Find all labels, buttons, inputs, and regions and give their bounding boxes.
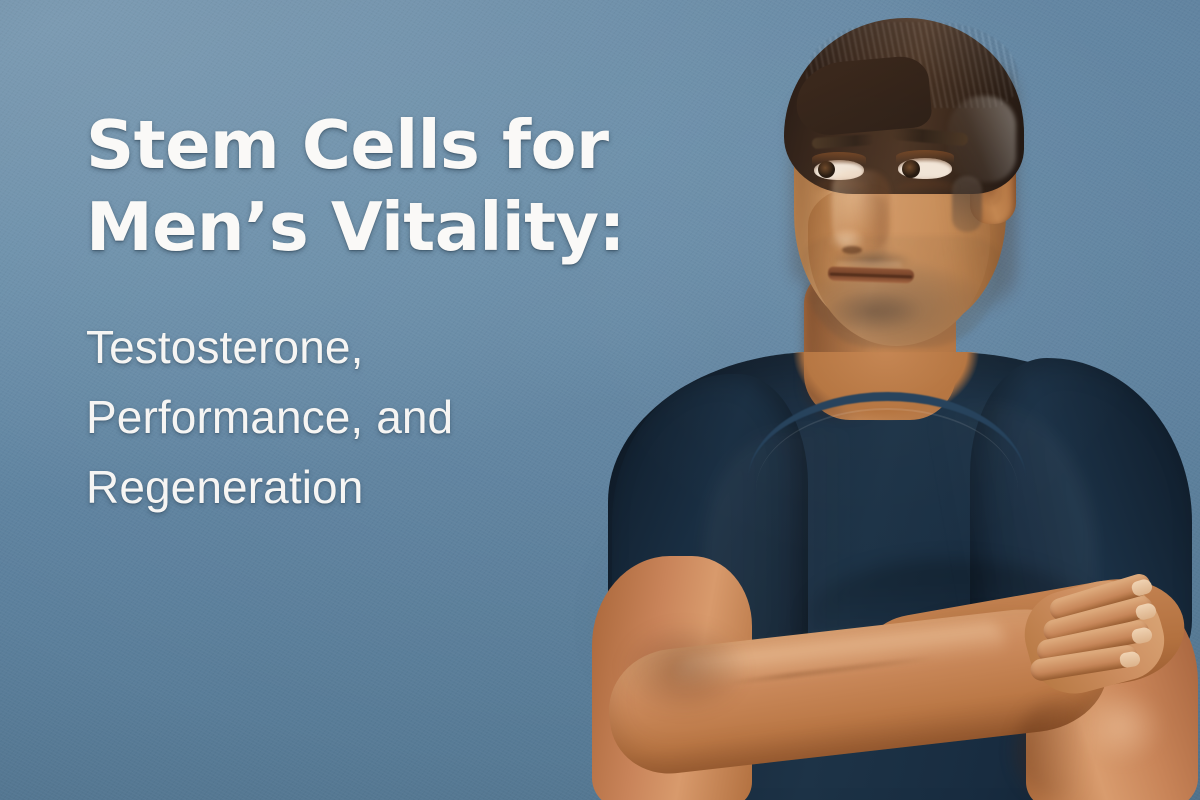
bicep-highlight: [1076, 690, 1184, 786]
article-hero-banner: Stem Cells for Men’s Vitality: Testoster…: [0, 0, 1200, 800]
eyelid-left: [812, 152, 866, 165]
chin-shadow: [824, 292, 928, 340]
banner-subheadline: Testosterone, Performance, and Regenerat…: [86, 268, 706, 522]
under-eye-shadow-right: [896, 180, 956, 196]
elbow-shadow: [600, 620, 750, 730]
eyelid-right: [896, 150, 954, 163]
banner-copy-block: Stem Cells for Men’s Vitality: Testoster…: [86, 104, 706, 522]
banner-headline: Stem Cells for Men’s Vitality:: [86, 104, 706, 268]
sideburn: [952, 176, 982, 232]
